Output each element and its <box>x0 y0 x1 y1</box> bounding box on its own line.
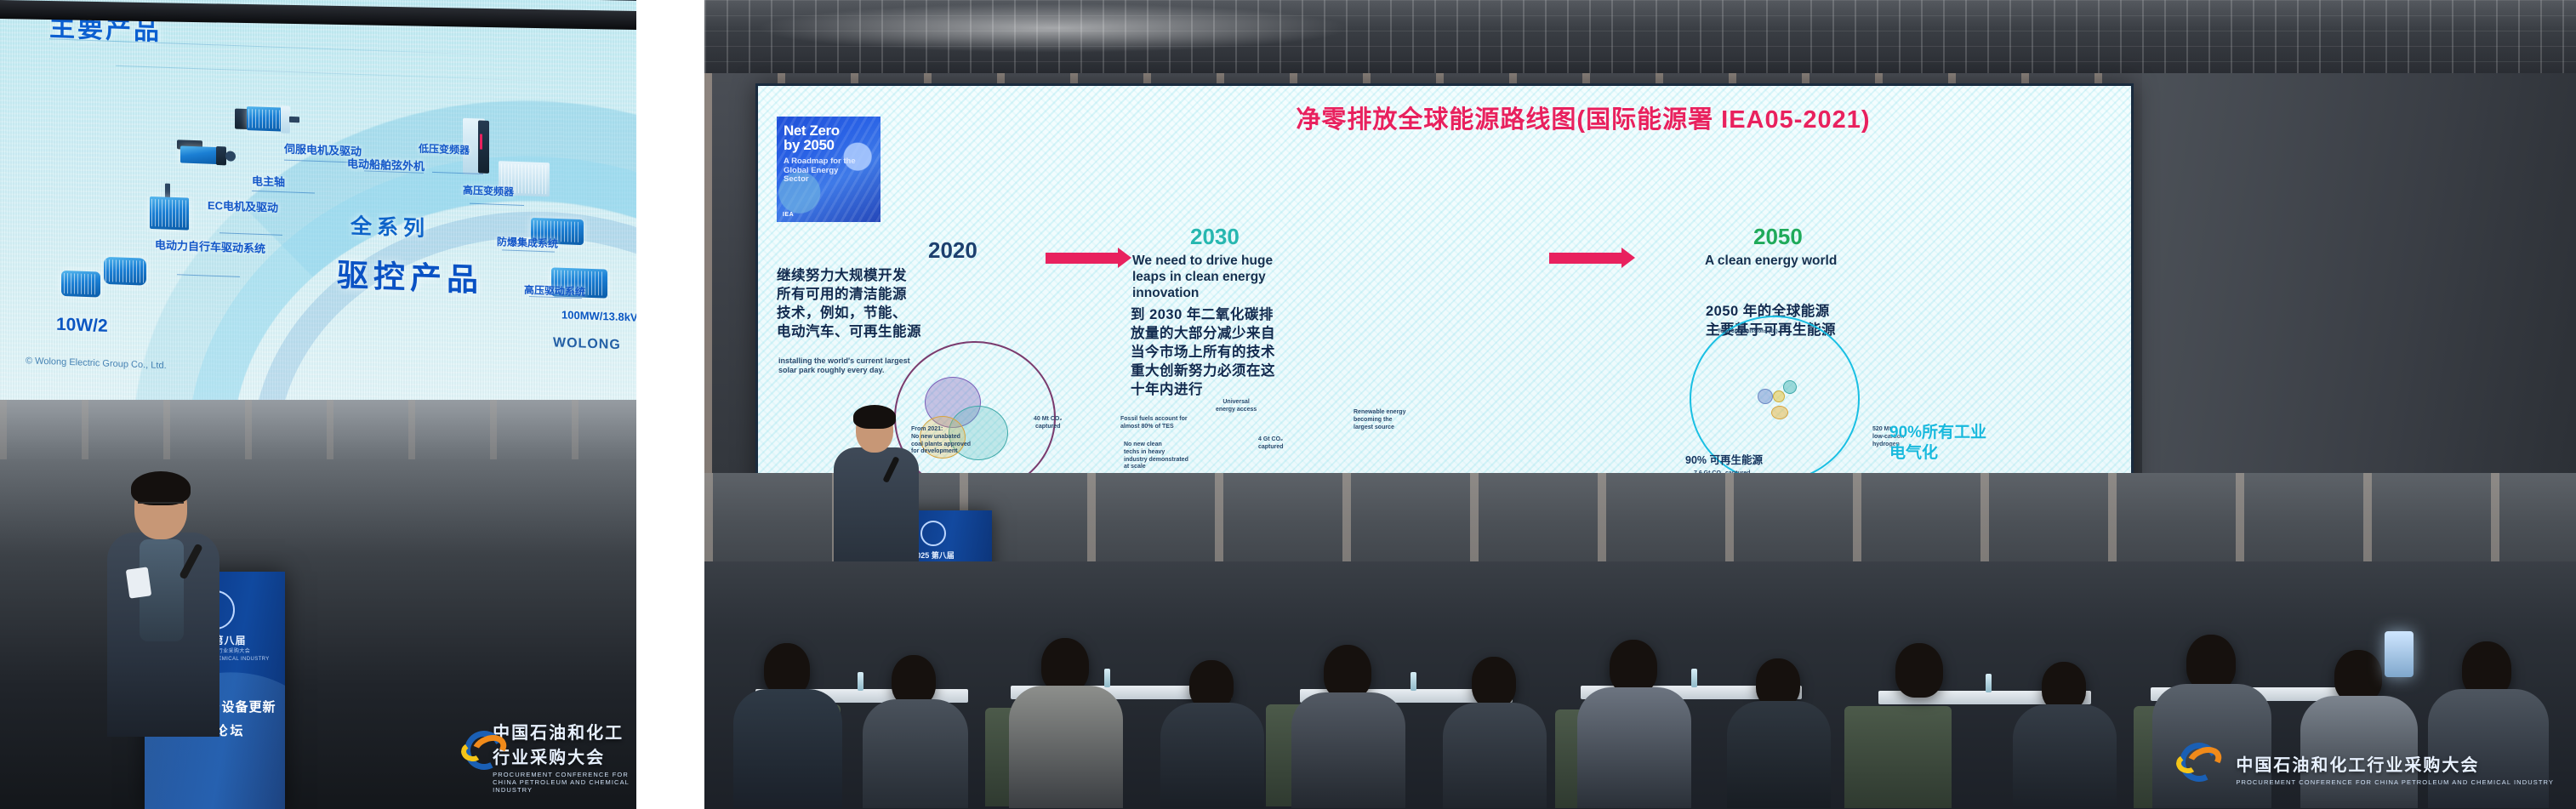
audience-shoulders <box>1863 691 1977 808</box>
column-year-2050: 2050 <box>1753 224 1803 250</box>
left-conference-watermark: 中国石油和化工行业采购大会 PROCUREMENT CONFERENCE FOR… <box>459 719 636 794</box>
column-body-2030: 到 2030 年二氧化碳排 放量的大部分减少来自 当今市场上所有的技术 重大创新… <box>1131 305 1275 400</box>
conference-name-en: PROCUREMENT CONFERENCE FOR CHINA PETROLE… <box>493 771 636 794</box>
column-year-2030: 2030 <box>1190 224 1240 250</box>
panel-gap <box>636 0 704 809</box>
audience-head <box>1472 657 1516 708</box>
cover-title: Net Zero by 2050 <box>784 123 840 153</box>
right-ceiling-light <box>755 3 1351 53</box>
audience-shoulders <box>1443 703 1547 808</box>
product-label-boat-outboard: 电动船舶弦外机 <box>347 155 425 174</box>
electric-spindle-graphic <box>177 138 237 168</box>
arrow-2020-to-2030-icon <box>1046 253 1119 264</box>
left-slide-caption-products: 驱控产品 <box>337 249 483 300</box>
small-note-total-emissions: Total CO₂ emissions (Gt) <box>1718 329 1778 336</box>
power-range-min: 10W/2 <box>56 315 108 337</box>
audience-phone-screen <box>2385 631 2414 677</box>
left-wall-panels <box>0 400 636 459</box>
small-note-fossil-tes: Fossil fuels account for almost 80% of T… <box>1120 416 1188 431</box>
audience-head <box>892 655 936 706</box>
audience-head <box>1895 643 1943 698</box>
conference-name-cn: 中国石油和化工行业采购大会 <box>2236 751 2554 776</box>
small-note-40mt: 40 Mt CO₂ captured <box>1034 416 1062 431</box>
audience-shoulders <box>2013 704 2117 808</box>
iea-report-cover: Net Zero by 2050 A Roadmap for the Globa… <box>777 117 881 222</box>
cover-subtitle: A Roadmap for the Global Energy Sector <box>784 157 874 185</box>
product-label-ec-motor: EC电机及驱动 <box>208 197 278 215</box>
audience-head <box>1324 645 1371 699</box>
conference-name-cn: 中国石油和化工行业采购大会 <box>493 719 636 768</box>
audience-shoulders <box>733 689 842 808</box>
right-conference-watermark: 中国石油和化工行业采购大会 PROCUREMENT CONFERENCE FOR… <box>2174 743 2554 794</box>
motor-graphic-bottom-left <box>61 267 111 303</box>
right-photo-panel: 净零排放全球能源路线图(国际能源署 IEA05-2021) Net Zero b… <box>704 0 2576 809</box>
column-note-2020: installing the world's current largest s… <box>778 356 910 376</box>
left-photo-panel: 主要产品 <box>0 0 636 809</box>
ec-motor-graphic <box>146 183 194 237</box>
column-heading-2030: We need to drive huge leaps in clean ene… <box>1132 253 1273 302</box>
product-label-hv-inverter: 高压变频器 <box>463 183 514 199</box>
left-speaker-person <box>102 476 230 732</box>
conference-logo-icon <box>459 731 482 782</box>
highlight-90-industry-electrification: 90%所有工业 电气化 <box>1889 423 1986 464</box>
speaker-badge <box>126 567 151 598</box>
left-slide-brand: WOLONG <box>553 335 621 353</box>
audience-head <box>1610 640 1657 694</box>
screenshot-root: 主要产品 <box>0 0 2576 809</box>
audience-shoulders <box>1727 701 1831 808</box>
arrow-2030-to-2050-icon <box>1549 253 1622 264</box>
water-bottle <box>858 672 863 691</box>
small-note-heavy-industry: No new clean techs in heavy industry dem… <box>1124 442 1188 471</box>
audience-shoulders <box>1160 703 1264 808</box>
water-bottle <box>1986 674 1992 692</box>
audience-head <box>2186 635 2236 691</box>
audience-head <box>764 643 810 696</box>
water-bottle <box>1691 669 1697 687</box>
audience-shoulders <box>1291 692 1405 808</box>
audience-shoulders <box>863 699 968 808</box>
product-label-exproof: 防爆集成系统 <box>497 234 558 251</box>
right-side-wall <box>2142 73 2576 481</box>
annotation-90-renewables: 90% 可再生能源 <box>1685 453 1763 467</box>
conference-name-en: PROCUREMENT CONFERENCE FOR CHINA PETROLE… <box>2236 778 2554 786</box>
power-range-max: 100MW/13.8kV <box>561 308 636 323</box>
column-year-2020: 2020 <box>928 237 977 264</box>
product-label-spindle: 电主轴 <box>252 172 285 189</box>
column-body-2020: 继续努力大规模开发 所有可用的清洁能源 技术，例如，节能、 电动汽车、可再生能源 <box>777 266 921 341</box>
audience-head <box>1041 638 1089 692</box>
product-label-hv-drive: 高压驱动系统 <box>524 282 585 299</box>
right-slide-title: 净零排放全球能源路线图(国际能源署 IEA05-2021) <box>1081 100 2085 135</box>
left-slide-caption-series: 全系列 <box>350 209 430 242</box>
right-speaker-hair <box>853 405 896 429</box>
speaker-glasses <box>138 502 184 512</box>
speaker-hair <box>131 471 191 505</box>
audience-head <box>2334 650 2382 703</box>
servo-motor-graphic <box>235 104 296 135</box>
product-label-lv-inverter: 低压变频器 <box>419 141 470 157</box>
water-bottle <box>1104 669 1110 687</box>
small-note-renewables-largest: Renewable energy becoming the largest so… <box>1354 409 1405 431</box>
cover-publisher: IEA <box>783 212 794 218</box>
column-heading-2050: A clean energy world <box>1705 253 1837 269</box>
audience-shoulders <box>1009 686 1123 808</box>
small-note-4gt: 4 Gt CO₂ captured <box>1258 436 1284 452</box>
water-bottle <box>1411 672 1416 691</box>
conference-logo-icon <box>2174 743 2226 794</box>
right-speaker-person <box>832 408 926 587</box>
small-note-universal-access: Universal energy access <box>1216 399 1257 414</box>
audience-shoulders <box>1577 687 1691 808</box>
